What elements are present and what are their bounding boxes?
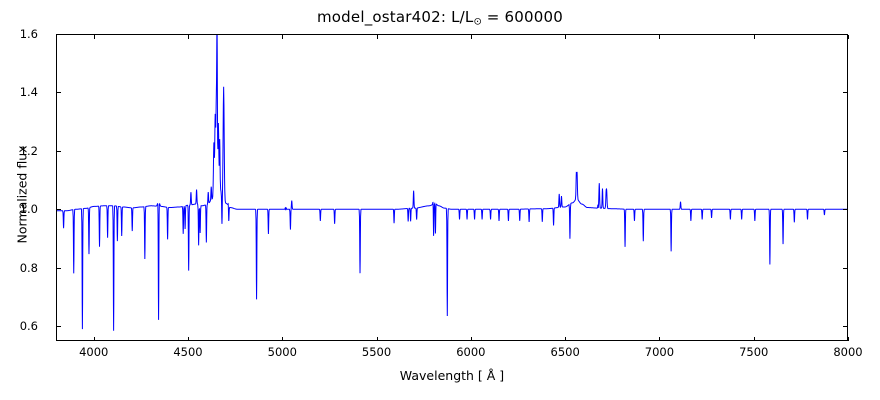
y-tick-mark: [57, 34, 61, 35]
y-tick-label: 0.6: [20, 319, 38, 333]
x-tick-mark: [377, 35, 378, 39]
x-tick-label: 7500: [739, 345, 768, 359]
title-tail: = 600000: [482, 8, 563, 26]
title-main: model_ostar402: L/L: [317, 8, 473, 26]
x-tick-mark: [754, 337, 755, 341]
y-tick-mark: [843, 151, 847, 152]
y-tick-mark: [843, 209, 847, 210]
x-tick-mark: [565, 337, 566, 341]
page-title: model_ostar402: L/L⊙ = 600000: [0, 8, 880, 28]
x-tick-mark: [754, 35, 755, 39]
x-tick-mark: [188, 337, 189, 341]
x-tick-mark: [659, 337, 660, 341]
y-tick-mark: [57, 92, 61, 93]
y-tick-mark: [843, 34, 847, 35]
spectrum-line-svg: [57, 35, 847, 340]
x-tick-mark: [282, 35, 283, 39]
y-tick-mark: [843, 92, 847, 93]
y-tick-mark: [57, 151, 61, 152]
x-tick-mark: [188, 35, 189, 39]
x-tick-label: 7000: [645, 345, 674, 359]
y-tick-mark: [843, 268, 847, 269]
x-tick-mark: [659, 35, 660, 39]
spectrum-figure: model_ostar402: L/L⊙ = 600000 4000450050…: [0, 0, 880, 400]
x-tick-mark: [471, 337, 472, 341]
x-tick-mark: [471, 35, 472, 39]
x-tick-mark: [848, 35, 849, 39]
y-tick-mark: [843, 326, 847, 327]
x-tick-mark: [565, 35, 566, 39]
title-subscript: ⊙: [473, 17, 481, 28]
y-axis-label: Normalized flux: [15, 85, 30, 305]
x-tick-label: 8000: [833, 345, 862, 359]
x-tick-mark: [282, 337, 283, 341]
x-tick-label: 4000: [79, 345, 108, 359]
plot-axes-area: [56, 34, 848, 341]
x-tick-label: 5500: [362, 345, 391, 359]
x-tick-mark: [377, 337, 378, 341]
x-tick-label: 5000: [268, 345, 297, 359]
spectrum-trace: [57, 35, 847, 331]
x-axis-label: Wavelength [ Å ]: [56, 368, 848, 383]
x-tick-label: 4500: [173, 345, 202, 359]
x-tick-label: 6000: [456, 345, 485, 359]
x-tick-label: 6500: [551, 345, 580, 359]
y-tick-label: 1.6: [20, 27, 38, 41]
x-tick-mark: [848, 337, 849, 341]
y-tick-mark: [57, 326, 61, 327]
y-tick-mark: [57, 209, 61, 210]
x-tick-mark: [94, 337, 95, 341]
y-tick-mark: [57, 268, 61, 269]
x-tick-mark: [94, 35, 95, 39]
